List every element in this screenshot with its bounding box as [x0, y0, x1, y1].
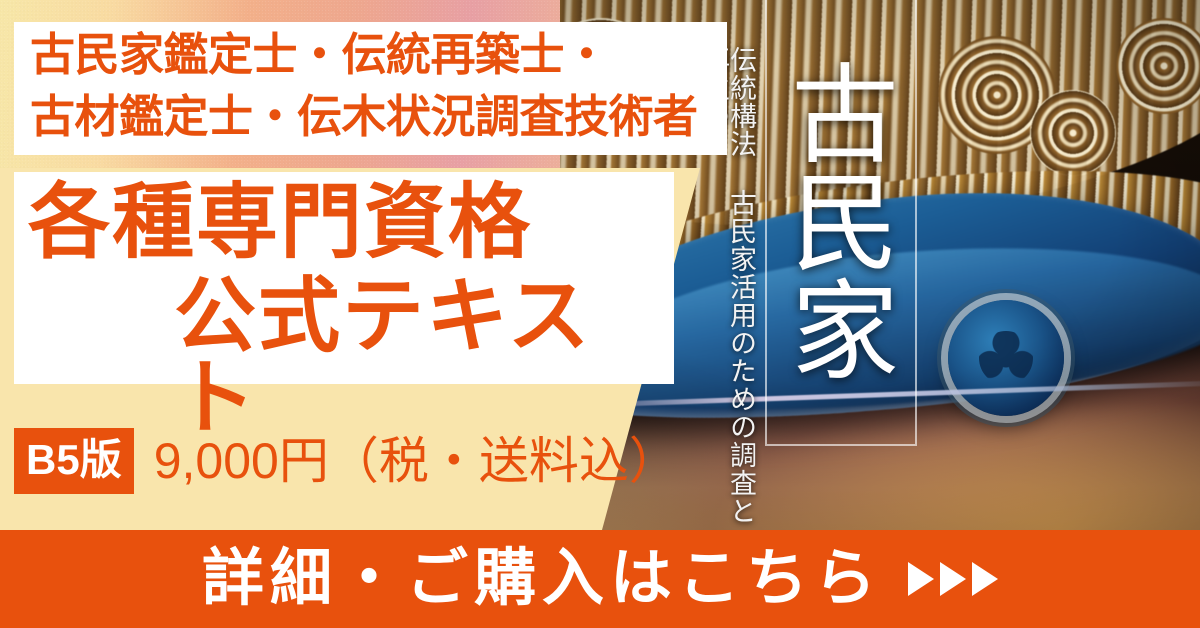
price-row: B5版 9,000円（税・送料込）	[14, 428, 679, 494]
certifications-line-2: 古材鑑定士・伝木状況調査技術者	[30, 86, 730, 148]
certifications-line-1: 古民家鑑定士・伝統再築士・	[30, 24, 730, 86]
certifications-box: 古民家鑑定士・伝統再築士・ 古材鑑定士・伝木状況調査技術者	[14, 22, 727, 155]
headline-line-2: 公式テキスト	[174, 276, 674, 440]
cta-button[interactable]: 詳細・ご購入はこちら	[0, 530, 1200, 628]
play-arrow-icon	[972, 562, 998, 596]
headline-box: 各種専門資格 公式テキスト	[14, 172, 674, 384]
price-text: 9,000円（税・送料込）	[154, 436, 679, 486]
crest-medallion-icon	[948, 300, 1064, 416]
cta-label: 詳細・ご購入はこちら	[202, 548, 882, 610]
cta-arrows	[908, 562, 998, 596]
play-arrow-icon	[940, 562, 966, 596]
carved-swirl-icon	[1030, 90, 1116, 176]
size-badge: B5版	[14, 428, 134, 494]
book-subtitle-line1: 伝統構法	[726, 46, 756, 158]
promo-banner: 伝統構法 古民家活用のための調査と再生の 古民家 古民家鑑定士・伝統再築士・ 古…	[0, 0, 1200, 628]
play-arrow-icon	[908, 562, 934, 596]
book-title: 古民家	[778, 10, 898, 430]
headline-line-1: 各種専門資格	[28, 182, 532, 264]
certifications-text: 古民家鑑定士・伝統再築士・ 古材鑑定士・伝木状況調査技術者	[30, 24, 730, 147]
